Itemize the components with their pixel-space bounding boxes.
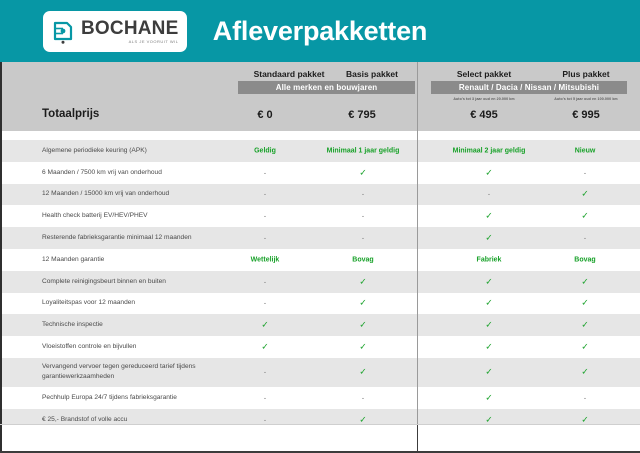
cell-standaard: - [222,277,308,286]
cell-standaard: - [222,234,308,243]
column-title-select: Select pakket [434,69,534,79]
cell-standaard: - [222,368,308,377]
row-label: Pechhulp Europa 24/7 tijdens fabrieksgar… [42,393,242,403]
table-row: Resterende fabrieksgarantie minimaal 12 … [2,227,640,249]
cell-select: ✓ [446,233,532,244]
row-label: Resterende fabrieksgarantie minimaal 12 … [42,233,242,243]
cell-plus: ✓ [542,211,628,222]
cell-standaard: - [222,190,308,199]
table-row: 6 Maanden / 7500 km vrij van onderhoud-✓… [2,162,640,184]
bochane-logo-mark-icon [51,19,77,45]
table-row: Loyaliteitspas voor 12 maanden-✓✓✓ [2,293,640,315]
cell-select: ✓ [446,211,532,222]
table-row: Complete reinigingsbeurt binnen en buite… [2,271,640,293]
cell-plus: ✓ [542,320,628,331]
cell-basis: - [320,234,406,243]
table-row: Pechhulp Europa 24/7 tijdens fabrieksgar… [2,387,640,409]
column-sub-select: Auto's tot 3 jaar oud en 20.000 km [434,97,534,101]
row-label: Algemene periodieke keuring (APK) [42,146,242,156]
table-row: Algemene periodieke keuring (APK)GeldigM… [2,140,640,162]
column-price-plus: € 995 [540,109,632,121]
cell-plus: ✓ [542,276,628,287]
table-row: Health check batterij EV/HEV/PHEV--✓✓ [2,205,640,227]
cell-basis: - [320,212,406,221]
cell-standaard: - [222,393,308,402]
cell-basis: ✓ [320,167,406,178]
cell-select: Fabriek [446,256,532,263]
page-header: BOCHANE ALS JE VOORUIT WIL Afleverpakket… [0,0,640,62]
column-pill-standaard: Alle merken en bouwjaren [238,81,415,94]
cell-standaard: - [222,415,308,424]
cell-select: ✓ [446,320,532,331]
cell-basis: - [320,393,406,402]
cell-select: ✓ [446,367,532,378]
table-row: Vloeistoffen controle en bijvullen✓✓✓✓ [2,336,640,358]
cell-standaard: - [222,299,308,308]
cell-plus: - [542,234,628,243]
cell-select: - [446,190,532,199]
cell-plus: - [542,393,628,402]
package-group-divider [417,62,418,447]
cell-basis: ✓ [320,367,406,378]
row-label: Vloeistoffen controle en bijvullen [42,342,242,352]
cell-standaard: ✓ [222,342,308,353]
bochane-logo-wordmark: BOCHANE [81,19,178,38]
cell-select: Minimaal 2 jaar geldig [446,147,532,154]
cell-plus: Bovag [542,256,628,263]
column-sub-plus: Auto's tot 5 jaar oud en 100.000 km [540,97,632,101]
footer-strip [0,425,640,452]
column-price-standaard: € 0 [233,109,297,121]
totaalprijs-label: Totaalprijs [42,108,99,120]
row-label: 12 Maanden garantie [42,255,242,265]
column-pill-select: Renault / Dacia / Nissan / Mitsubishi [431,81,627,94]
cell-basis: Minimaal 1 jaar geldig [320,147,406,154]
bochane-logo[interactable]: BOCHANE ALS JE VOORUIT WIL [43,11,187,52]
row-label: Complete reinigingsbeurt binnen en buite… [42,277,242,287]
cell-standaard: Wettelijk [222,256,308,263]
cell-select: ✓ [446,167,532,178]
row-label: 12 Maanden / 15000 km vrij van onderhoud [42,190,242,200]
row-label: Vervangend vervoer tegen gereduceerd tar… [42,363,242,383]
table-row: Vervangend vervoer tegen gereduceerd tar… [2,358,640,387]
cell-standaard: - [222,212,308,221]
cell-standaard: Geldig [222,147,308,154]
cell-plus: ✓ [542,189,628,200]
package-header-band: Totaalprijs Standaard pakket Alle merken… [0,62,640,131]
cell-plus: - [542,168,628,177]
header-body-spacer [0,131,640,140]
column-price-basis: € 795 [327,109,397,121]
column-price-select: € 495 [434,109,534,121]
bochane-logo-tagline: ALS JE VOORUIT WIL [129,40,179,44]
row-label: Health check batterij EV/HEV/PHEV [42,211,242,221]
table-row: 12 Maanden garantieWettelijkBovagFabriek… [2,249,640,271]
features-table: Algemene periodieke keuring (APK)GeldigM… [0,140,640,431]
column-title-basis: Basis pakket [327,69,417,79]
cell-basis: ✓ [320,298,406,309]
cell-select: ✓ [446,298,532,309]
afleverpakketten-page: BOCHANE ALS JE VOORUIT WIL Afleverpakket… [0,0,640,453]
cell-basis: ✓ [320,276,406,287]
cell-basis: ✓ [320,342,406,353]
cell-plus: Nieuw [542,147,628,154]
cell-basis: Bovag [320,256,406,263]
cell-plus: ✓ [542,342,628,353]
column-title-plus: Plus pakket [540,69,632,79]
package-group-divider-footer [417,425,418,451]
row-label: 6 Maanden / 7500 km vrij van onderhoud [42,168,242,178]
table-row: 12 Maanden / 15000 km vrij van onderhoud… [2,184,640,206]
cell-standaard: ✓ [222,320,308,331]
cell-standaard: - [222,168,308,177]
row-label: Loyaliteitspas voor 12 maanden [42,299,242,309]
cell-select: ✓ [446,392,532,403]
cell-select: ✓ [446,276,532,287]
cell-plus: ✓ [542,367,628,378]
table-row: Technische inspectie✓✓✓✓ [2,314,640,336]
cell-basis: ✓ [320,320,406,331]
cell-plus: ✓ [542,298,628,309]
cell-basis: - [320,190,406,199]
cell-select: ✓ [446,342,532,353]
row-label: Technische inspectie [42,320,242,330]
